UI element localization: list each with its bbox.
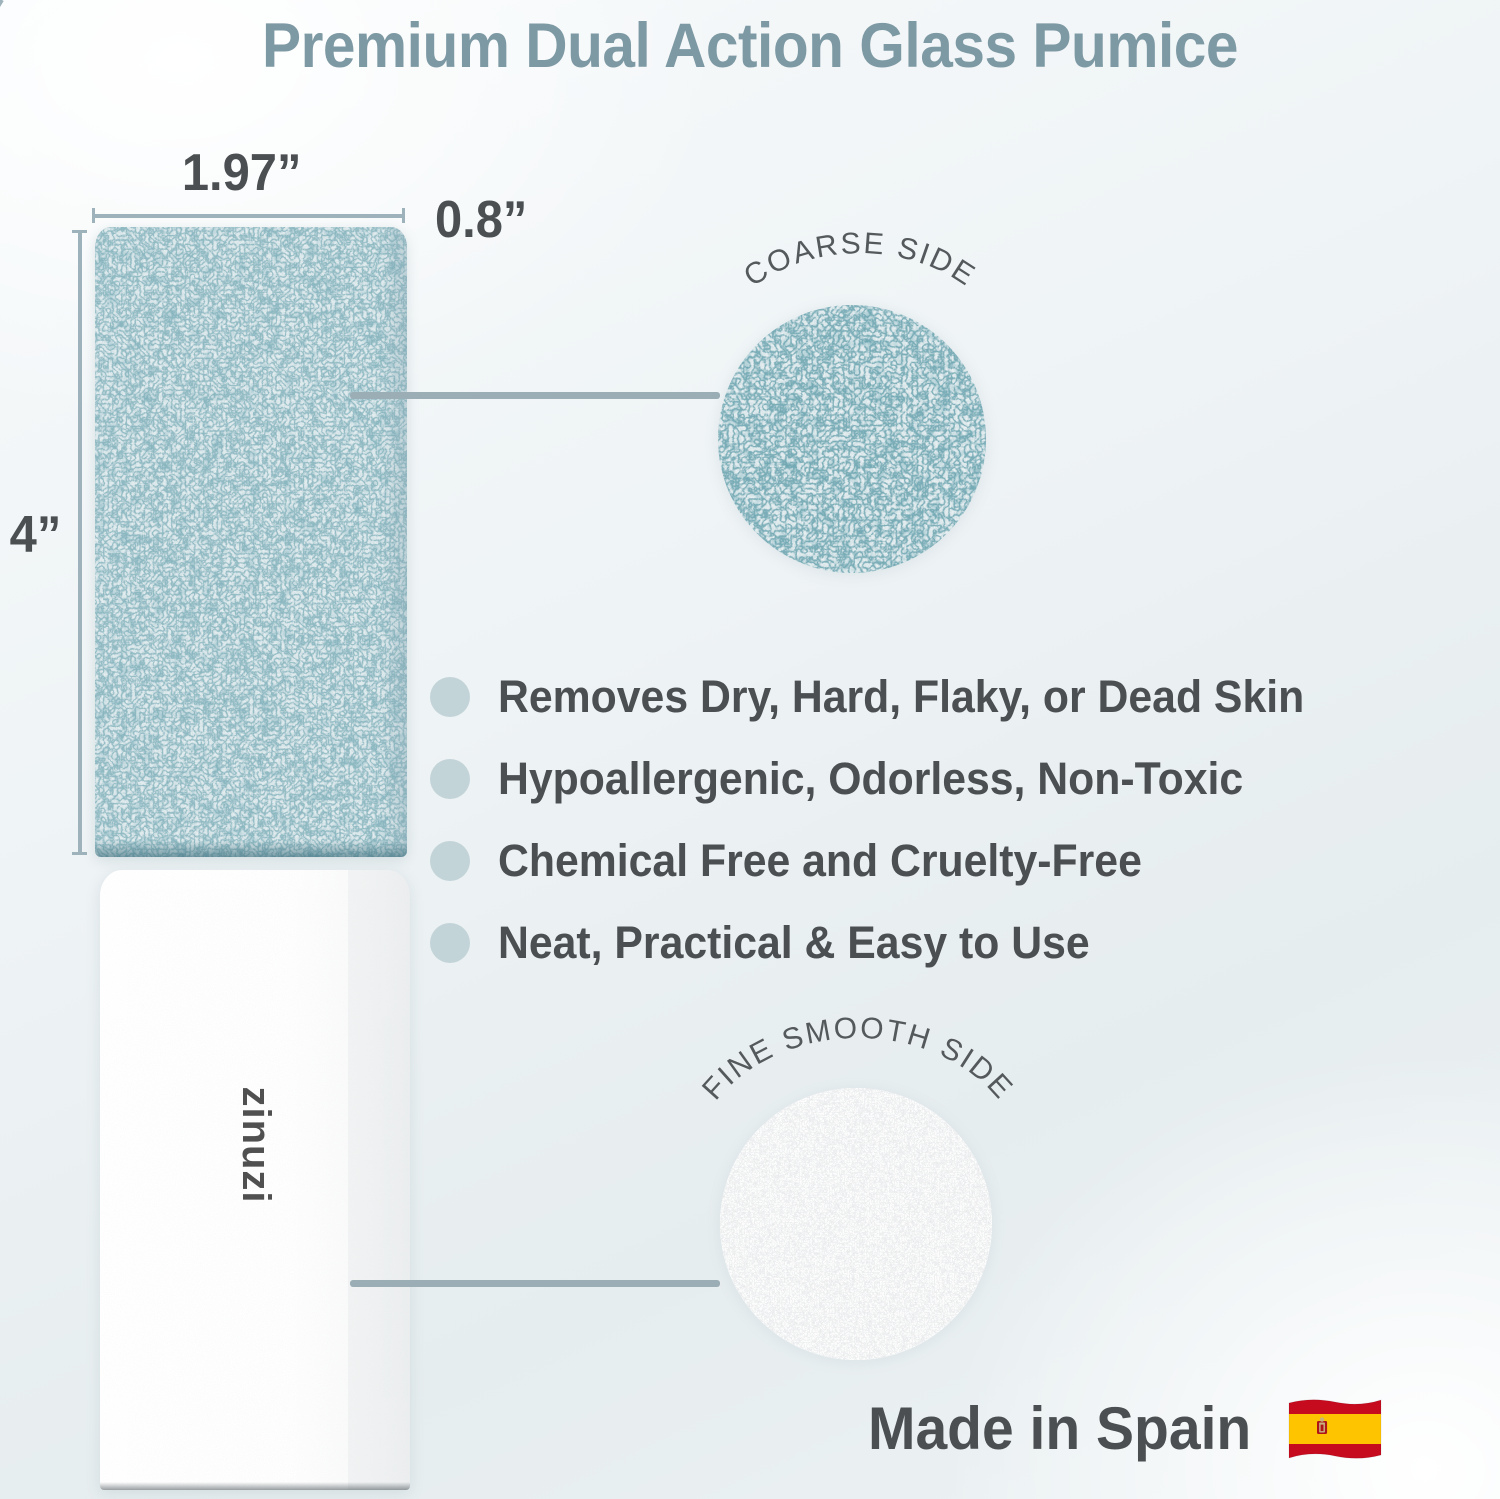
brand-logo: zinuzi bbox=[226, 1085, 286, 1205]
feature-label: Removes Dry, Hard, Flaky, or Dead Skin bbox=[498, 671, 1304, 723]
list-item: Chemical Free and Cruelty-Free bbox=[430, 826, 1330, 896]
coarse-side-label: COARSE SIDE bbox=[700, 236, 1020, 346]
svg-text:COARSE SIDE: COARSE SIDE bbox=[738, 227, 982, 293]
feature-label: Hypoallergenic, Odorless, Non-Toxic bbox=[498, 753, 1243, 805]
bullet-icon bbox=[430, 759, 470, 799]
bullet-icon bbox=[430, 677, 470, 717]
origin-badge: Made in Spain bbox=[868, 1394, 1383, 1463]
spain-flag-icon bbox=[1287, 1397, 1383, 1461]
width-dimension-label: 1.97” bbox=[182, 143, 302, 203]
fine-side-label: FINE SMOOTH SIDE bbox=[690, 1020, 1026, 1140]
feature-list: Removes Dry, Hard, Flaky, or Dead Skin H… bbox=[430, 662, 1330, 990]
origin-label: Made in Spain bbox=[868, 1394, 1251, 1463]
coarse-pore-texture bbox=[95, 227, 407, 857]
infographic-canvas: Premium Dual Action Glass Pumice 1.97” 0… bbox=[0, 0, 1500, 1499]
depth-dimension-label: 0.8” bbox=[435, 190, 527, 250]
fine-callout-leader-line bbox=[350, 1280, 720, 1287]
list-item: Neat, Practical & Easy to Use bbox=[430, 908, 1330, 978]
bullet-icon bbox=[430, 841, 470, 881]
svg-text:FINE SMOOTH SIDE: FINE SMOOTH SIDE bbox=[696, 1012, 1020, 1107]
feature-label: Neat, Practical & Easy to Use bbox=[498, 917, 1090, 969]
height-dimension-label: 4” bbox=[10, 505, 62, 565]
coarse-pumice-block bbox=[95, 227, 407, 857]
coarse-callout-leader-line bbox=[350, 392, 720, 399]
bullet-icon bbox=[430, 923, 470, 963]
coarse-block-bottom-edge bbox=[95, 841, 407, 857]
depth-dimension-leader bbox=[0, 0, 4, 40]
page-title: Premium Dual Action Glass Pumice bbox=[53, 6, 1448, 86]
list-item: Hypoallergenic, Odorless, Non-Toxic bbox=[430, 744, 1330, 814]
coarse-block-right-edge bbox=[381, 227, 407, 857]
fine-side-label-text: FINE SMOOTH SIDE bbox=[696, 1012, 1020, 1107]
height-dimension-line bbox=[78, 230, 82, 855]
fine-block-bottom-edge bbox=[100, 1482, 410, 1490]
width-dimension-line bbox=[92, 214, 405, 218]
feature-label: Chemical Free and Cruelty-Free bbox=[498, 835, 1142, 887]
list-item: Removes Dry, Hard, Flaky, or Dead Skin bbox=[430, 662, 1330, 732]
coarse-side-label-text: COARSE SIDE bbox=[738, 227, 982, 293]
